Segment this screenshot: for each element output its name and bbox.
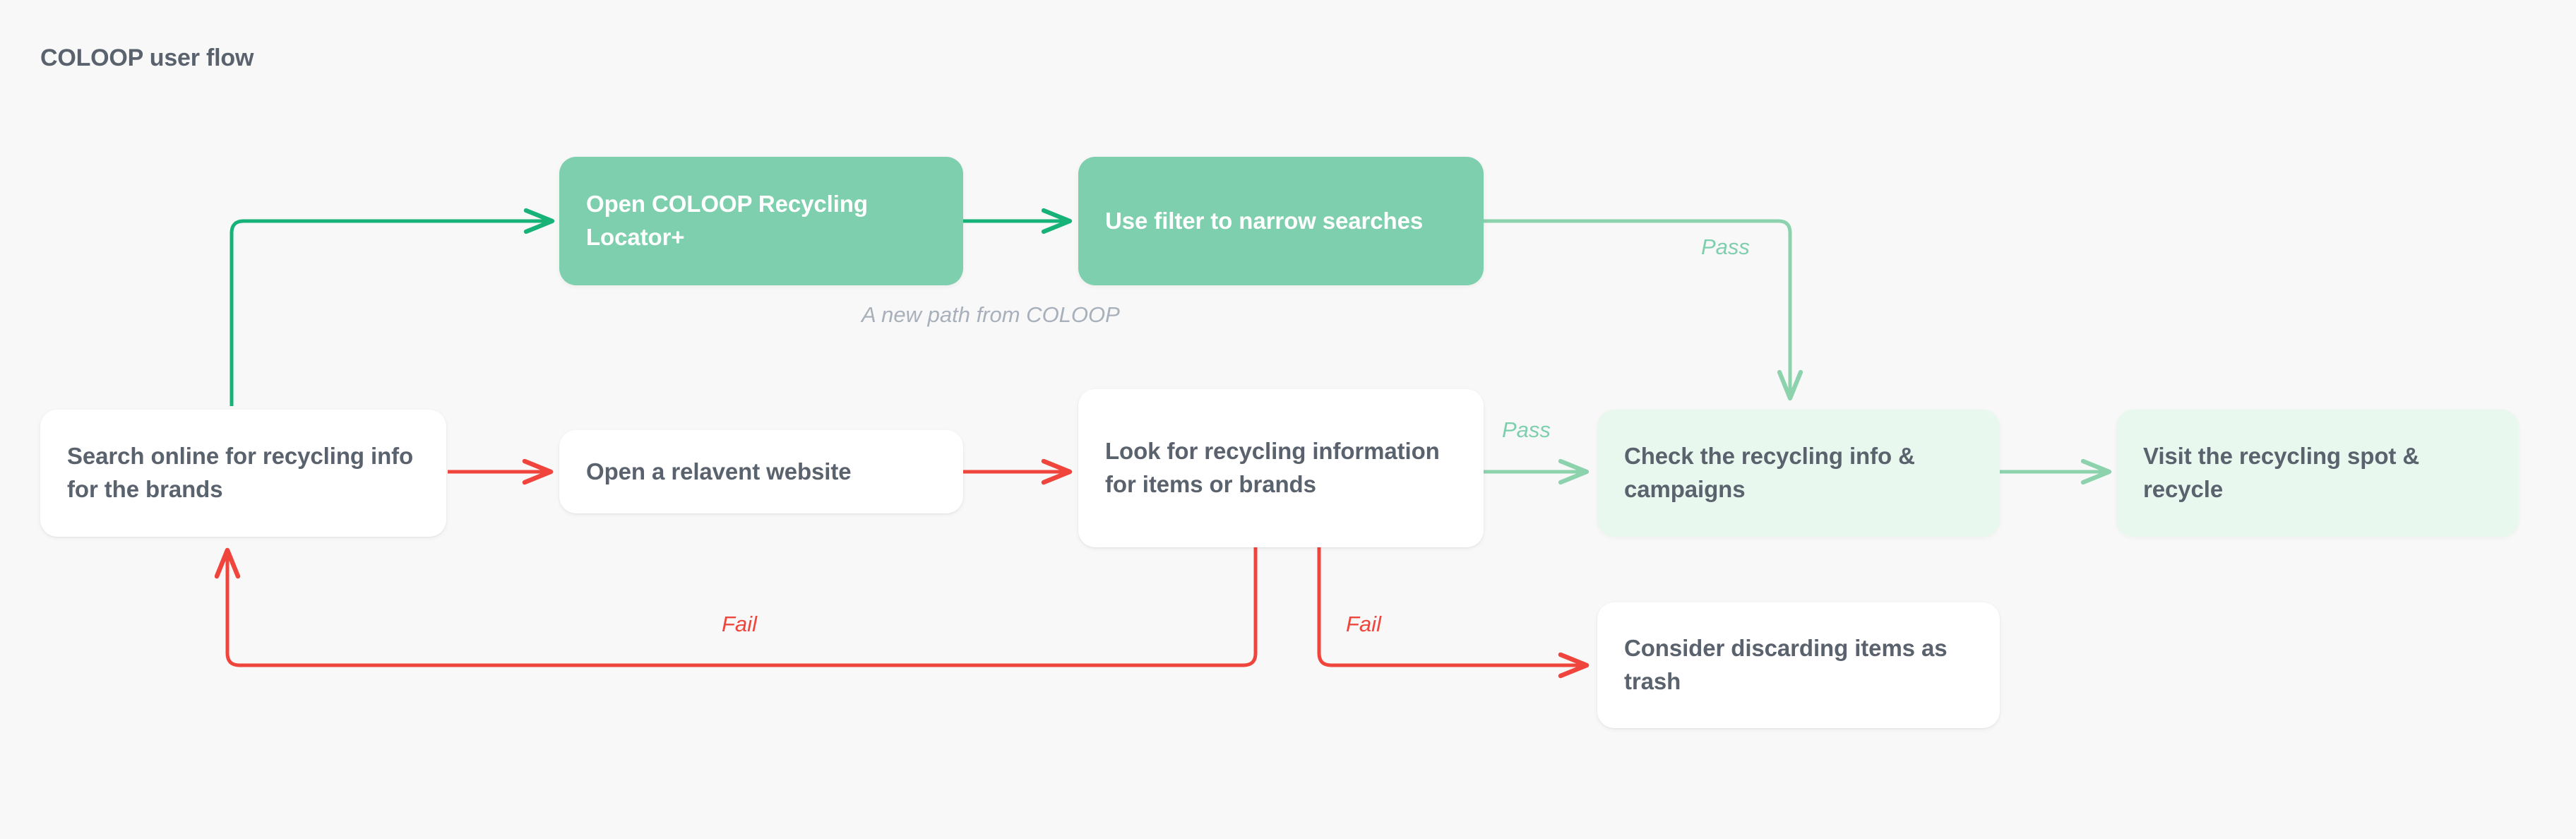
page-title: COLOOP user flow bbox=[40, 44, 254, 72]
edge-look-to-search-fail bbox=[227, 547, 1256, 665]
node-label: Consider discarding items as trash bbox=[1624, 632, 1973, 698]
node-check-recycling-info[interactable]: Check the recycling info & campaigns bbox=[1597, 410, 2000, 537]
edge-label-pass-lower: Pass bbox=[1502, 417, 1551, 443]
edge-label-pass-upper: Pass bbox=[1701, 234, 1750, 260]
node-discard-trash[interactable]: Consider discarding items as trash bbox=[1597, 602, 2000, 728]
node-look-for-info[interactable]: Look for recycling information for items… bbox=[1078, 389, 1484, 547]
flowchart-canvas: COLOOP user flow bbox=[0, 0, 2576, 839]
node-visit-spot[interactable]: Visit the recycling spot & recycle bbox=[2116, 410, 2519, 537]
node-open-website[interactable]: Open a relavent website bbox=[559, 430, 963, 513]
edge-label-fail-loop: Fail bbox=[722, 612, 757, 637]
node-label: Check the recycling info & campaigns bbox=[1624, 440, 1973, 506]
node-label: Visit the recycling spot & recycle bbox=[2143, 440, 2492, 506]
edge-search-to-locator bbox=[232, 221, 553, 406]
node-label: Open a relavent website bbox=[586, 456, 852, 489]
node-open-locator[interactable]: Open COLOOP Recycling Locator+ bbox=[559, 157, 963, 285]
node-label: Use filter to narrow searches bbox=[1105, 205, 1423, 238]
node-label: Open COLOOP Recycling Locator+ bbox=[586, 188, 936, 254]
node-label: Search online for recycling info for the… bbox=[67, 440, 419, 506]
edge-label-fail-trash: Fail bbox=[1346, 612, 1381, 637]
node-use-filter[interactable]: Use filter to narrow searches bbox=[1078, 157, 1484, 285]
node-search-online[interactable]: Search online for recycling info for the… bbox=[40, 410, 446, 537]
edge-label-new-path: A new path from COLOOP bbox=[861, 302, 1120, 328]
node-label: Look for recycling information for items… bbox=[1105, 435, 1457, 501]
edge-look-to-trash-fail bbox=[1319, 547, 1587, 665]
